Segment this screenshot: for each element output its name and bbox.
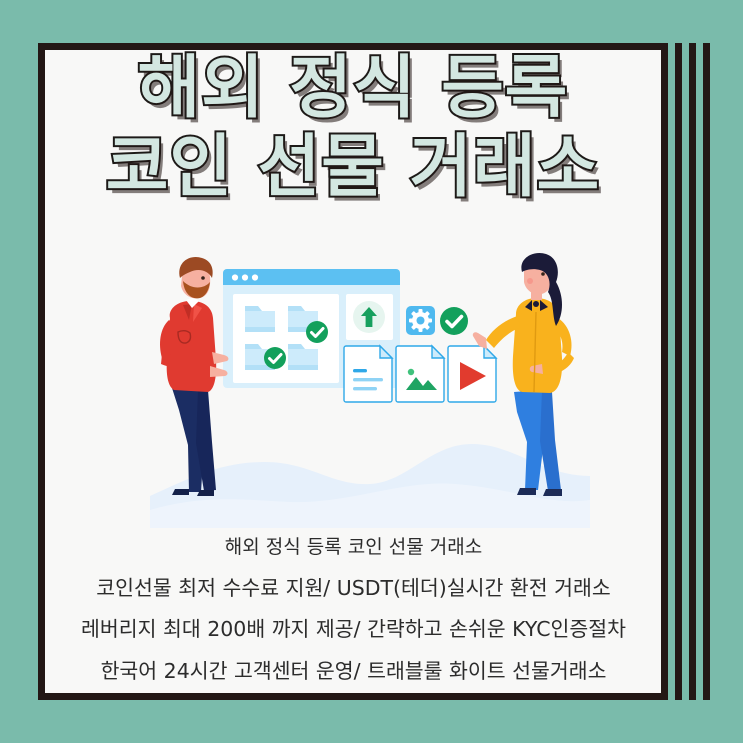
- window-dot-2: [242, 274, 248, 280]
- body-copy-block: 해외 정식 등록 코인 선물 거래소 코인선물 최저 수수료 지원/ USDT(…: [45, 536, 662, 685]
- video-document-icon: [448, 346, 496, 402]
- frame-accent-stripe-3: [703, 43, 710, 700]
- frame-accent-stripe-1: [675, 43, 682, 700]
- body-line-2: 코인선물 최저 수수료 지원/ USDT(테더)실시간 환전 거래소: [45, 576, 662, 602]
- man-figure: [160, 257, 228, 496]
- text-document-icon: [344, 346, 392, 402]
- body-line-1: 해외 정식 등록 코인 선물 거래소: [45, 536, 662, 560]
- window-dot-3: [252, 274, 258, 280]
- window-dot-1: [232, 274, 238, 280]
- upload-arrow-icon: [353, 301, 385, 333]
- illustration: [150, 248, 590, 528]
- ground-hills: [150, 444, 590, 528]
- gear-icon: [406, 306, 435, 335]
- check-circle-icon: [440, 307, 468, 335]
- folder-check-badge-1: [306, 321, 328, 343]
- image-document-icon: [396, 346, 444, 402]
- body-line-3: 레버리지 최대 200배 까지 제공/ 간략하고 손쉬운 KYC인증절차: [45, 617, 662, 643]
- frame-accent-stripe-2: [689, 43, 696, 700]
- body-line-4: 한국어 24시간 고객센터 운영/ 트래블룰 화이트 선물거래소: [45, 659, 662, 685]
- folder-check-badge-2: [264, 347, 286, 369]
- poster-root: 해외 정식 등록 코인 선물 거래소: [0, 0, 743, 743]
